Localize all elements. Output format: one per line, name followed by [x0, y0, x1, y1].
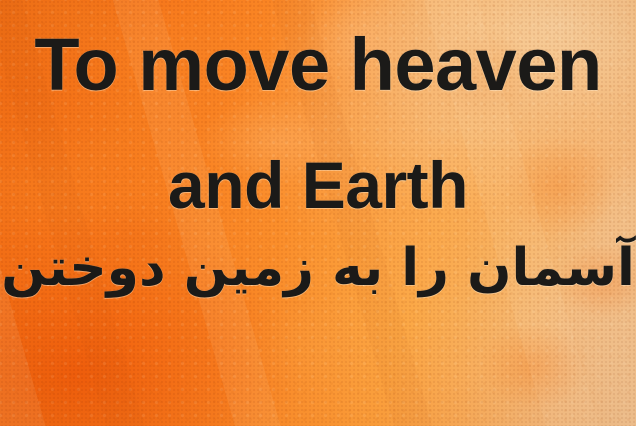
persian-translation-line: آسمان را به زمین دوختن [0, 242, 636, 294]
english-line-2: and Earth [0, 152, 636, 218]
text-stack: To move heaven and Earth آسمان را به زمی… [0, 0, 636, 426]
english-line-1: To move heaven [0, 28, 636, 102]
proverb-image-card: To move heaven and Earth آسمان را به زمی… [0, 0, 636, 426]
